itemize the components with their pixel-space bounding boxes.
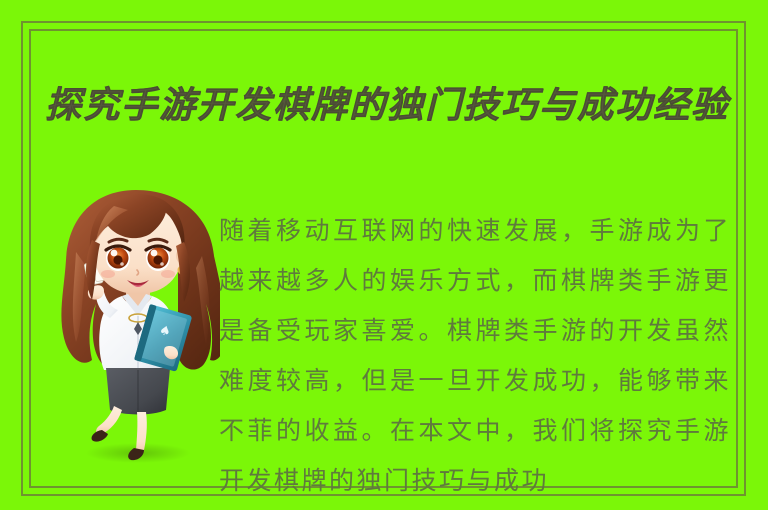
leg-left (96, 406, 122, 434)
blush-right (161, 270, 175, 278)
blush-left (101, 270, 115, 278)
eye-left (106, 245, 130, 271)
eye-right (146, 245, 170, 271)
chibi-woman-illustration: A ♠ (52, 178, 220, 466)
poster-canvas: 探究手游开发棋牌的独门技巧与成功经验 (0, 0, 768, 510)
page-title: 探究手游开发棋牌的独门技巧与成功经验 (45, 82, 735, 129)
body-paragraph: 随着移动互联网的快速发展，手游成为了越来越多人的娱乐方式，而棋牌类手游更是备受玩… (219, 206, 731, 506)
